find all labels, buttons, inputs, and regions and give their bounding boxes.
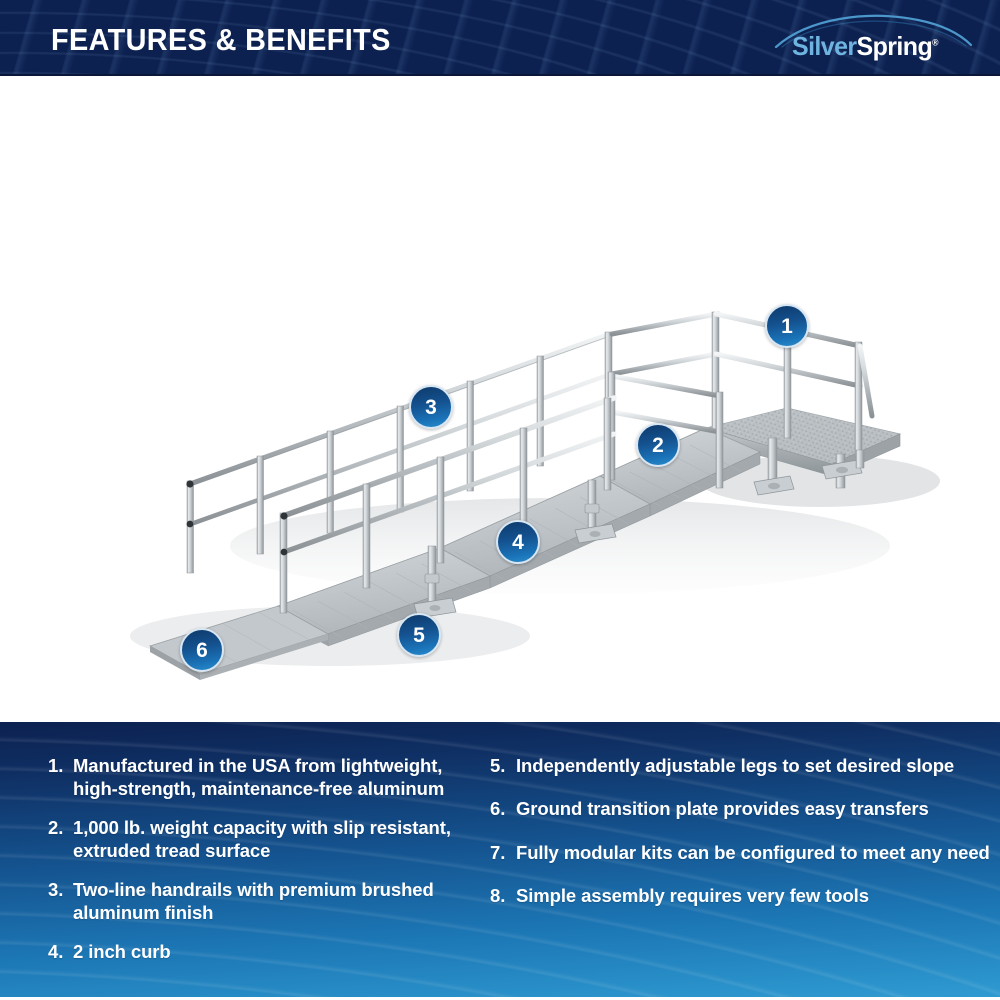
benefit-number-4: 4. [48,940,73,963]
ramp-illustration [0,76,1000,722]
benefit-item-6: 6. Ground transition plate provides easy… [490,797,1000,820]
logo-text-silver: Silver [792,31,857,61]
benefit-text-3: Two-line handrails with premium brushed … [73,878,480,925]
benefit-item-4: 4. 2 inch curb [48,940,480,963]
callout-badge-1[interactable]: 1 [765,304,809,348]
benefit-number-3: 3. [48,878,73,925]
product-image-area: 1 2 3 4 5 6 [0,76,1000,722]
benefit-item-3: 3. Two-line handrails with premium brush… [48,878,480,925]
benefit-item-1: 1. Manufactured in the USA from lightwei… [48,754,480,801]
benefits-panel: 1. Manufactured in the USA from lightwei… [0,722,1000,1000]
callout-badge-2[interactable]: 2 [636,423,680,467]
benefit-number-2: 2. [48,816,73,863]
benefit-number-5: 5. [490,754,516,777]
benefit-text-6: Ground transition plate provides easy tr… [516,797,1000,820]
logo-text-spring: Spring [857,31,933,61]
benefit-text-8: Simple assembly requires very few tools [516,884,1000,907]
benefit-text-7: Fully modular kits can be configured to … [516,841,1000,864]
benefit-number-7: 7. [490,841,516,864]
benefits-columns: 1. Manufactured in the USA from lightwei… [0,722,1000,997]
benefits-right-column: 5. Independently adjustable legs to set … [480,722,1000,997]
page-title: FEATURES & BENEFITS [51,22,391,58]
callout-badge-6[interactable]: 6 [180,628,224,672]
page-header: FEATURES & BENEFITS SilverSpring® [0,0,1000,76]
benefit-number-8: 8. [490,884,516,907]
benefit-text-5: Independently adjustable legs to set des… [516,754,1000,777]
callout-badge-5[interactable]: 5 [397,613,441,657]
benefit-text-2: 1,000 lb. weight capacity with slip resi… [73,816,480,863]
benefit-item-7: 7. Fully modular kits can be configured … [490,841,1000,864]
brand-logo: SilverSpring® [768,14,978,66]
callout-badge-3[interactable]: 3 [409,385,453,429]
benefit-item-2: 2. 1,000 lb. weight capacity with slip r… [48,816,480,863]
benefit-number-6: 6. [490,797,516,820]
benefit-text-1: Manufactured in the USA from lightweight… [73,754,480,801]
benefit-number-1: 1. [48,754,73,801]
logo-wordmark: SilverSpring® [792,31,939,62]
logo-registered-mark: ® [932,37,938,47]
features-benefits-page: FEATURES & BENEFITS SilverSpring® [0,0,1000,1000]
benefits-left-column: 1. Manufactured in the USA from lightwei… [0,722,480,997]
benefit-item-8: 8. Simple assembly requires very few too… [490,884,1000,907]
callout-badge-4[interactable]: 4 [496,520,540,564]
benefit-text-4: 2 inch curb [73,940,480,963]
benefit-item-5: 5. Independently adjustable legs to set … [490,754,1000,777]
